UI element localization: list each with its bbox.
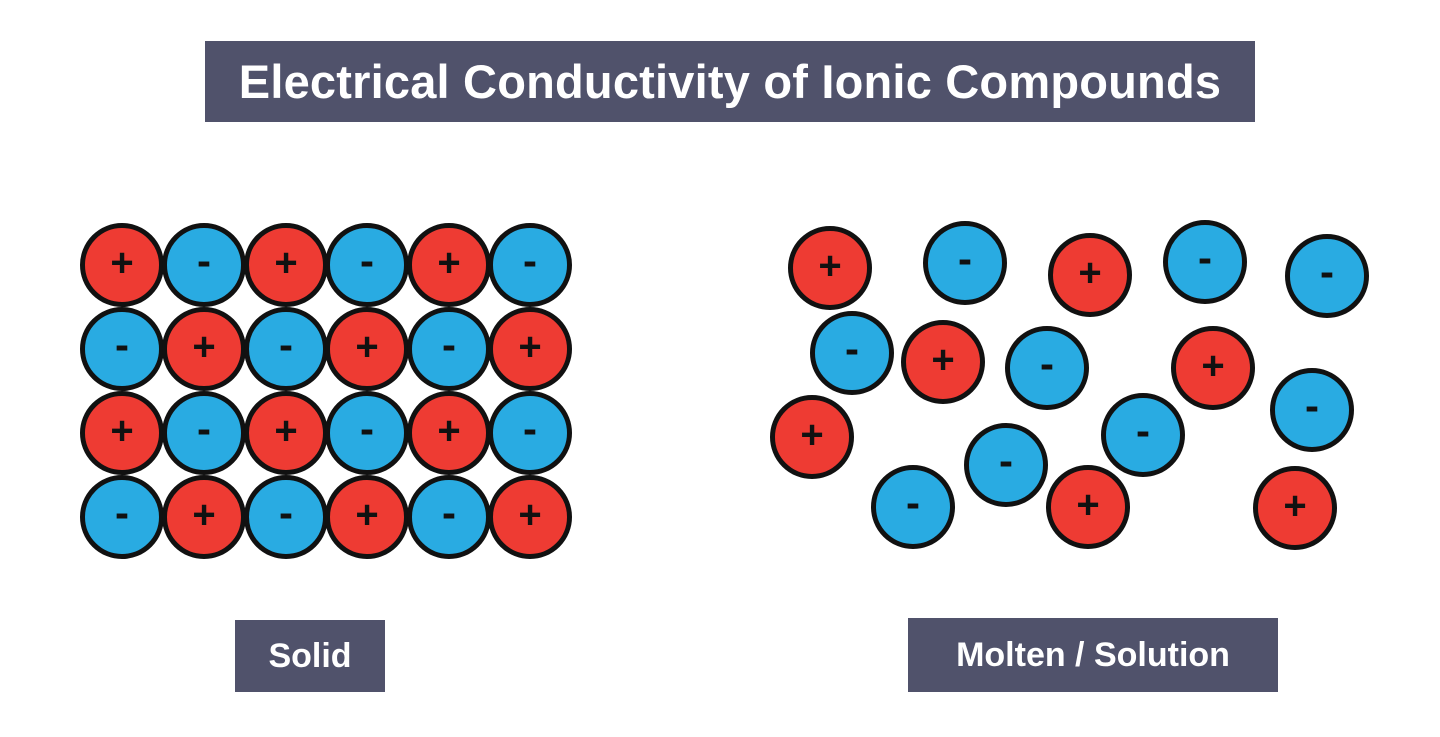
- minus-icon: -: [999, 440, 1013, 482]
- plus-icon: +: [1283, 486, 1306, 526]
- plus-icon: +: [1076, 485, 1099, 525]
- minus-icon: -: [115, 324, 129, 366]
- minus-icon: -: [1198, 237, 1212, 279]
- minus-icon: -: [197, 240, 211, 282]
- cation-ion: +: [488, 475, 572, 559]
- minus-icon: -: [279, 492, 293, 534]
- cation-ion: +: [407, 223, 491, 307]
- caption-box-solid: Solid: [235, 620, 385, 692]
- cation-ion: +: [325, 307, 409, 391]
- anion-ion: -: [80, 307, 164, 391]
- minus-icon: -: [360, 408, 374, 450]
- plus-icon: +: [192, 327, 215, 367]
- plus-icon: +: [274, 411, 297, 451]
- plus-icon: +: [355, 327, 378, 367]
- anion-ion: -: [1101, 393, 1185, 477]
- minus-icon: -: [360, 240, 374, 282]
- plus-icon: +: [818, 246, 841, 286]
- minus-icon: -: [523, 240, 537, 282]
- minus-icon: -: [1320, 251, 1334, 293]
- plus-icon: +: [110, 411, 133, 451]
- anion-ion: -: [244, 475, 328, 559]
- plus-icon: +: [518, 495, 541, 535]
- plus-icon: +: [192, 495, 215, 535]
- minus-icon: -: [1136, 410, 1150, 452]
- anion-ion: -: [964, 423, 1048, 507]
- cation-ion: +: [162, 475, 246, 559]
- minus-icon: -: [115, 492, 129, 534]
- minus-icon: -: [958, 238, 972, 280]
- cation-ion: +: [788, 226, 872, 310]
- cation-ion: +: [488, 307, 572, 391]
- plus-icon: +: [110, 243, 133, 283]
- plus-icon: +: [1201, 346, 1224, 386]
- anion-ion: -: [407, 475, 491, 559]
- anion-ion: -: [162, 391, 246, 475]
- minus-icon: -: [523, 408, 537, 450]
- caption-label-solid: Solid: [268, 639, 351, 673]
- cation-ion: +: [80, 223, 164, 307]
- anion-ion: -: [1285, 234, 1369, 318]
- plus-icon: +: [437, 243, 460, 283]
- plus-icon: +: [518, 327, 541, 367]
- caption-box-molten: Molten / Solution: [908, 618, 1278, 692]
- anion-ion: -: [1163, 220, 1247, 304]
- cation-ion: +: [1048, 233, 1132, 317]
- minus-icon: -: [906, 482, 920, 524]
- anion-ion: -: [162, 223, 246, 307]
- minus-icon: -: [442, 492, 456, 534]
- minus-icon: -: [1305, 385, 1319, 427]
- anion-ion: -: [1270, 368, 1354, 452]
- anion-ion: -: [244, 307, 328, 391]
- minus-icon: -: [442, 324, 456, 366]
- solid-lattice-panel: +-+-+--+-+-++-+-+--+-+-+: [70, 215, 590, 565]
- anion-ion: -: [80, 475, 164, 559]
- page-title: Electrical Conductivity of Ionic Compoun…: [239, 58, 1221, 105]
- minus-icon: -: [1040, 343, 1054, 385]
- cation-ion: +: [325, 475, 409, 559]
- anion-ion: -: [488, 391, 572, 475]
- cation-ion: +: [162, 307, 246, 391]
- anion-ion: -: [923, 221, 1007, 305]
- cation-ion: +: [1171, 326, 1255, 410]
- plus-icon: +: [1078, 253, 1101, 293]
- cation-ion: +: [770, 395, 854, 479]
- diagram-canvas: Electrical Conductivity of Ionic Compoun…: [0, 0, 1440, 737]
- anion-ion: -: [325, 391, 409, 475]
- minus-icon: -: [197, 408, 211, 450]
- minus-icon: -: [845, 328, 859, 370]
- caption-label-molten: Molten / Solution: [956, 638, 1230, 672]
- plus-icon: +: [355, 495, 378, 535]
- cation-ion: +: [901, 320, 985, 404]
- anion-ion: -: [1005, 326, 1089, 410]
- cation-ion: +: [1253, 466, 1337, 550]
- cation-ion: +: [80, 391, 164, 475]
- plus-icon: +: [800, 415, 823, 455]
- anion-ion: -: [871, 465, 955, 549]
- cation-ion: +: [244, 223, 328, 307]
- cation-ion: +: [1046, 465, 1130, 549]
- cation-ion: +: [244, 391, 328, 475]
- anion-ion: -: [810, 311, 894, 395]
- plus-icon: +: [274, 243, 297, 283]
- plus-icon: +: [931, 340, 954, 380]
- anion-ion: -: [407, 307, 491, 391]
- cation-ion: +: [407, 391, 491, 475]
- anion-ion: -: [488, 223, 572, 307]
- molten-solution-panel: +-+---+-++----++: [750, 215, 1390, 565]
- anion-ion: -: [325, 223, 409, 307]
- minus-icon: -: [279, 324, 293, 366]
- page-title-banner: Electrical Conductivity of Ionic Compoun…: [205, 41, 1255, 122]
- plus-icon: +: [437, 411, 460, 451]
